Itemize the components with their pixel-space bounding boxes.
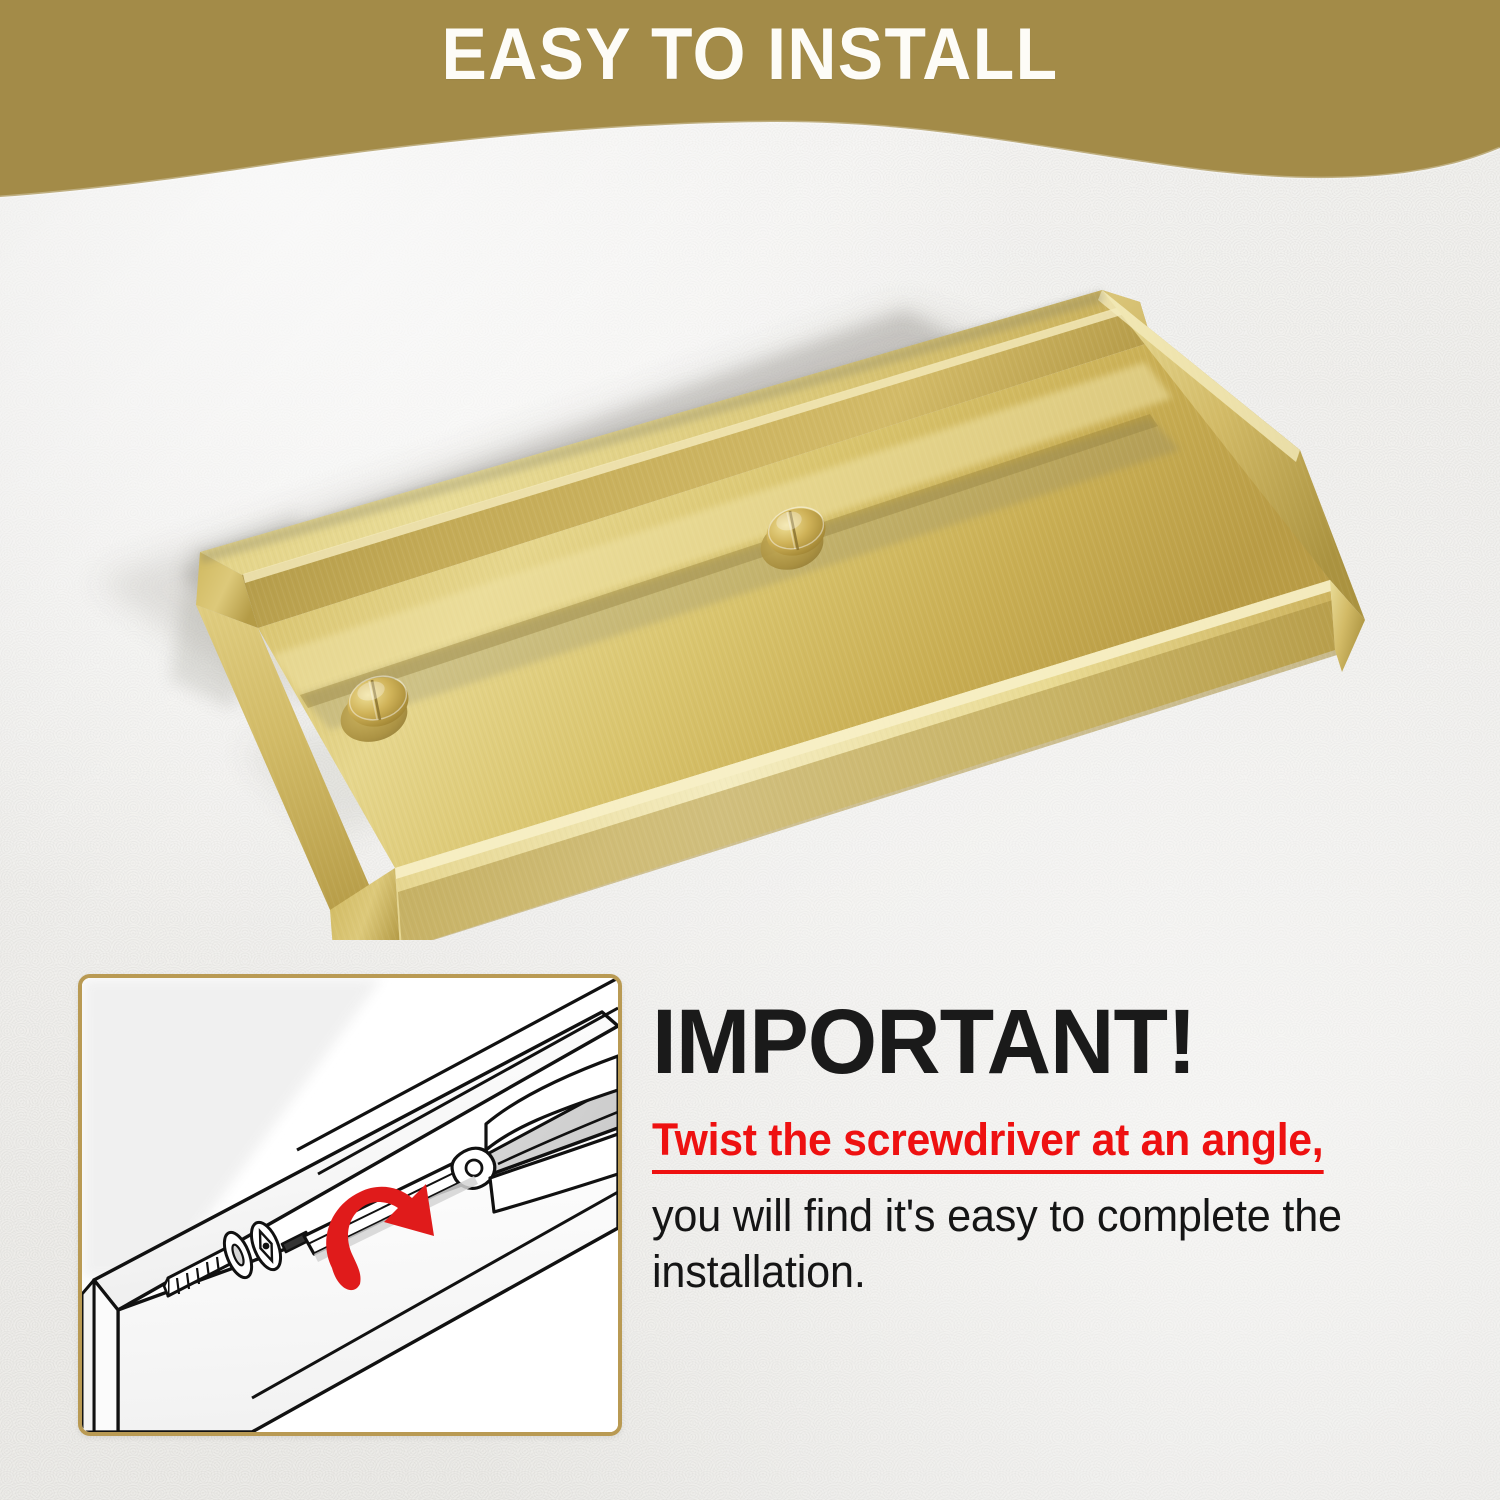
illus-bar-left-cap-face — [82, 1280, 94, 1432]
product-photo — [0, 150, 1500, 940]
callout-warning-text: Twist the screwdriver at an angle, — [652, 1114, 1323, 1174]
important-callout: IMPORTANT! Twist the screwdriver at an a… — [652, 996, 1472, 1300]
screwdriver-collar-hole — [466, 1160, 482, 1176]
infographic-page: EASY TO INSTALL — [0, 0, 1500, 1500]
callout-heading: IMPORTANT! — [652, 996, 1447, 1088]
header-banner: EASY TO INSTALL — [0, 0, 1500, 200]
callout-body-text: you will find it's easy to complete the … — [652, 1188, 1439, 1300]
page-title: EASY TO INSTALL — [53, 18, 1448, 91]
install-illustration-box — [78, 974, 622, 1436]
